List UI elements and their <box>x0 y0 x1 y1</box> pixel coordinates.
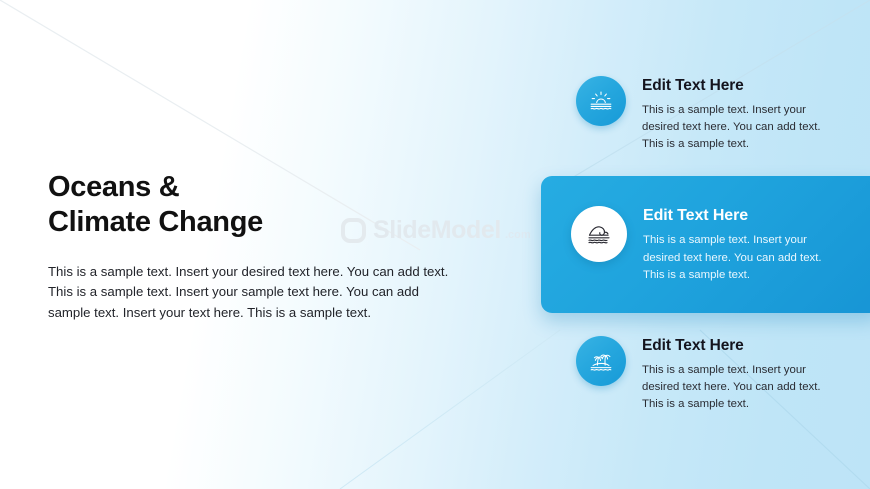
card-2-text: Edit Text Here This is a sample text. In… <box>643 206 839 284</box>
card-item-1[interactable]: Edit Text Here This is a sample text. In… <box>576 76 846 153</box>
sunrise-over-water-icon <box>576 76 626 126</box>
palm-island-icon <box>576 336 626 386</box>
slide-canvas: SlideModel .com Oceans & Climate Change … <box>0 0 870 489</box>
card-item-2[interactable]: Edit Text Here This is a sample text. In… <box>571 206 851 284</box>
card-item-3[interactable]: Edit Text Here This is a sample text. In… <box>576 336 846 413</box>
card-2-description: This is a sample text. Insert your desir… <box>643 232 839 283</box>
card-3-text: Edit Text Here This is a sample text. In… <box>642 336 830 413</box>
card-1-text: Edit Text Here This is a sample text. In… <box>642 76 830 153</box>
card-2-title: Edit Text Here <box>643 207 839 225</box>
card-3-title: Edit Text Here <box>642 337 830 355</box>
card-1-description: This is a sample text. Insert your desir… <box>642 102 830 153</box>
card-3-description: This is a sample text. Insert your desir… <box>642 362 830 413</box>
cards-region: Edit Text Here This is a sample text. In… <box>0 0 870 489</box>
card-1-title: Edit Text Here <box>642 77 830 95</box>
ocean-wave-icon <box>571 206 627 262</box>
